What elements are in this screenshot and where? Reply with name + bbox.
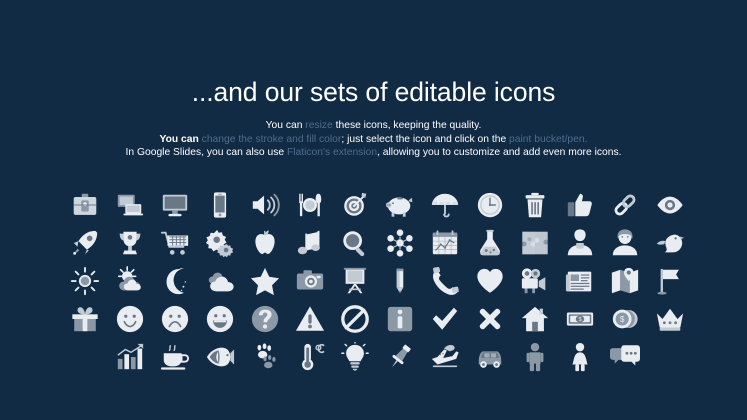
text-segment: , you can also use (201, 147, 287, 158)
text-segment: change the stroke and fill color (202, 134, 342, 145)
atom-molecule-icon[interactable] (377, 224, 422, 262)
phone-icon[interactable] (422, 262, 467, 300)
clock-icon[interactable] (467, 186, 512, 224)
question-mark-icon[interactable] (242, 300, 287, 338)
icon-row-4: $ $ (0, 300, 747, 338)
text-segment: paint bucket/pen. (509, 134, 587, 145)
text-segment: You can (160, 134, 199, 145)
piggy-bank-icon[interactable] (377, 186, 422, 224)
slide-canvas: ...and our sets of editable icons You ca… (0, 0, 747, 420)
flag-icon[interactable] (647, 262, 692, 300)
cross-icon[interactable] (467, 300, 512, 338)
shopping-cart-icon[interactable] (152, 224, 197, 262)
warning-triangle-icon[interactable] (287, 300, 332, 338)
subtitle-line-2: You can change the stroke and fill color… (0, 133, 747, 147)
svg-text:$: $ (619, 315, 624, 324)
airplane-icon[interactable] (422, 338, 467, 376)
crown-icon[interactable] (647, 300, 692, 338)
subtitle-line-1: You can resize these icons, keeping the … (0, 119, 747, 133)
fish-icon[interactable] (197, 338, 242, 376)
clouds-icon[interactable] (197, 262, 242, 300)
smiley-happy-icon[interactable] (107, 300, 152, 338)
text-segment: , allowing you to customize and add even… (377, 147, 621, 158)
gift-icon[interactable] (62, 300, 107, 338)
woman-icon[interactable] (557, 338, 602, 376)
thumbs-up-icon[interactable] (557, 186, 602, 224)
text-segment: resize (305, 120, 332, 131)
home-icon[interactable] (512, 300, 557, 338)
lightbulb-icon[interactable] (332, 338, 377, 376)
music-note-icon[interactable] (287, 224, 332, 262)
smiley-sad-icon[interactable] (152, 300, 197, 338)
plate-cutlery-icon[interactable] (287, 186, 332, 224)
subtitle-line-3: In Google Slides, you can also use Flati… (0, 146, 747, 160)
sun-cloud-icon[interactable] (107, 262, 152, 300)
calendar-chart-icon[interactable] (422, 224, 467, 262)
umbrella-icon[interactable] (422, 186, 467, 224)
coins-icon[interactable]: $ (602, 300, 647, 338)
star-icon[interactable] (242, 262, 287, 300)
icon-row-2 (0, 224, 747, 262)
bird-icon[interactable] (647, 224, 692, 262)
flask-icon[interactable] (467, 224, 512, 262)
text-segment: these icons, keeping the quality. (333, 120, 482, 131)
info-icon[interactable] (377, 300, 422, 338)
chat-bubbles-icon[interactable] (602, 338, 647, 376)
camera-icon[interactable] (287, 262, 332, 300)
moon-icon[interactable] (152, 262, 197, 300)
thermometer-icon[interactable] (287, 338, 332, 376)
text-segment: ; just select the icon and click on the (341, 134, 509, 145)
speaker-volume-icon[interactable] (242, 186, 287, 224)
gears-icon[interactable] (197, 224, 242, 262)
sun-icon[interactable] (62, 262, 107, 300)
icon-row-3 (0, 262, 747, 300)
puzzle-icon[interactable] (512, 224, 557, 262)
page-title: ...and our sets of editable icons (0, 78, 747, 107)
icon-row-5 (0, 338, 747, 376)
trophy-icon[interactable] (107, 224, 152, 262)
eye-icon[interactable] (647, 186, 692, 224)
newspaper-icon[interactable] (557, 262, 602, 300)
text-segment: Flaticon's extension (287, 147, 377, 158)
magnifier-icon[interactable] (332, 224, 377, 262)
user-male-icon[interactable] (557, 224, 602, 262)
text-segment: In Google Slides (126, 147, 202, 158)
target-dart-icon[interactable] (332, 186, 377, 224)
user-female-icon[interactable] (602, 224, 647, 262)
subtitle-block: You can resize these icons, keeping the … (0, 119, 747, 160)
bar-chart-icon[interactable] (107, 338, 152, 376)
smiley-grin-icon[interactable] (197, 300, 242, 338)
car-icon[interactable] (467, 338, 512, 376)
coffee-cup-icon[interactable] (152, 338, 197, 376)
checkmark-icon[interactable] (422, 300, 467, 338)
pencil-icon[interactable] (377, 262, 422, 300)
pushpin-icon[interactable] (377, 338, 422, 376)
laptop-devices-icon[interactable] (107, 186, 152, 224)
paw-prints-icon[interactable] (242, 338, 287, 376)
easel-icon[interactable] (332, 262, 377, 300)
text-segment: You can (266, 120, 306, 131)
apple-icon[interactable] (242, 224, 287, 262)
heart-icon[interactable] (467, 262, 512, 300)
prohibited-icon[interactable] (332, 300, 377, 338)
trash-bin-icon[interactable] (512, 186, 557, 224)
briefcase-icon[interactable] (62, 186, 107, 224)
rocket-icon[interactable] (62, 224, 107, 262)
link-chain-icon[interactable] (602, 186, 647, 224)
icon-grid: $ $ (0, 186, 747, 376)
banknote-icon[interactable]: $ (557, 300, 602, 338)
map-icon[interactable] (602, 262, 647, 300)
film-camera-icon[interactable] (512, 262, 557, 300)
monitor-icon[interactable] (152, 186, 197, 224)
smartphone-icon[interactable] (197, 186, 242, 224)
icon-row-1 (0, 186, 747, 224)
man-icon[interactable] (512, 338, 557, 376)
